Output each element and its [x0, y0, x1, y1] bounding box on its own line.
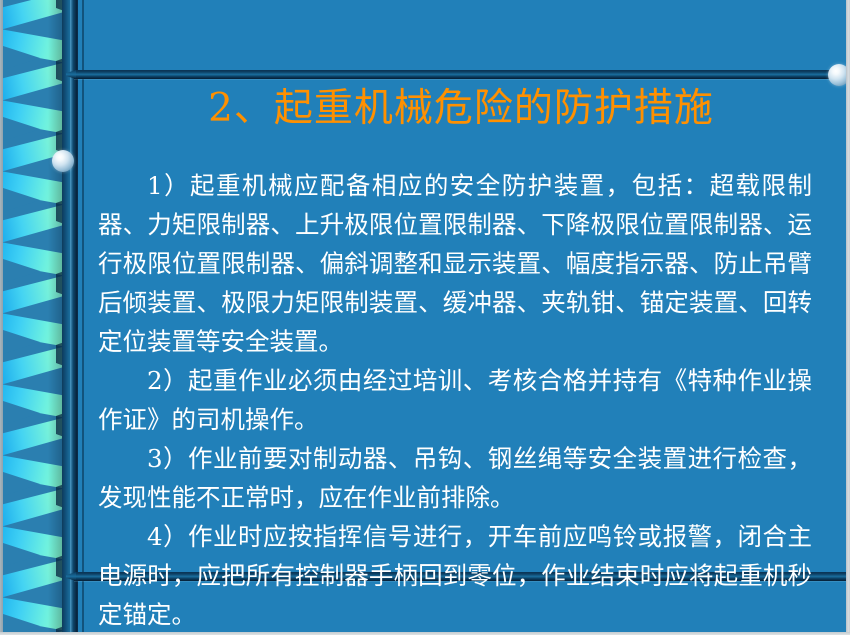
vertical-spine-highlight — [70, 0, 73, 635]
body-paragraph: 4）作业时应按指挥信号进行，开车前应鸣铃或报警，闭合主电源时，应把所有控制器手柄… — [98, 517, 812, 634]
page-title: 2、起重机械危险的防护措施 — [82, 88, 840, 131]
sphere-bullet-left — [52, 150, 74, 172]
body-paragraph: 2）起重作业必须由经过培训、考核合格并持有《特种作业操作证》的司机操作。 — [98, 361, 812, 439]
body-paragraph: 1）起重机械应配备相应的安全防护装置，包括：超载限制器、力矩限制器、上升极限位置… — [98, 166, 812, 361]
body-paragraph: 3）作业前要对制动器、吊钩、钢丝绳等安全装置进行检查，发现性能不正常时，应在作业… — [98, 439, 812, 517]
frame-edge-left — [0, 0, 3, 635]
slide-canvas: 2、起重机械危险的防护措施 1）起重机械应配备相应的安全防护装置，包括：超载限制… — [0, 0, 850, 635]
body-text-block: 1）起重机械应配备相应的安全防护装置，包括：超载限制器、力矩限制器、上升极限位置… — [98, 166, 812, 634]
divider-bar-top — [74, 70, 846, 79]
frame-edge-right — [846, 0, 850, 635]
